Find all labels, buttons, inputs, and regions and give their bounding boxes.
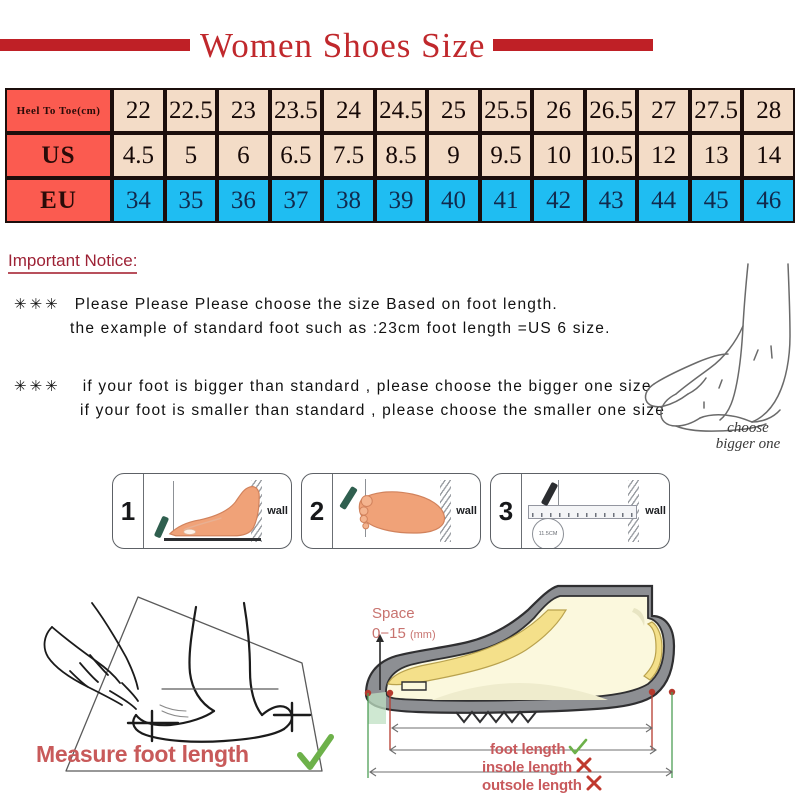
space-label-value: 0−15 <box>372 625 406 642</box>
cell-cm-7: 25.5 <box>480 88 533 133</box>
notice-block-1: ✳✳✳ Please Please Please choose the size… <box>14 293 611 341</box>
row-header-eu: EU <box>5 178 112 223</box>
cell-eu-10: 44 <box>637 178 690 223</box>
cross-icon-outsole-length <box>585 774 603 797</box>
cell-us-9: 10.5 <box>585 133 638 178</box>
foot-sketch-caption: choose bigger one <box>688 420 800 452</box>
title-bar-left <box>0 39 190 51</box>
cell-us-7: 9.5 <box>480 133 533 178</box>
step-number-2: 2 <box>302 474 333 548</box>
notice-2-line-1: if your foot is bigger than standard , p… <box>61 375 652 399</box>
step-2-wall-label: wall <box>456 505 477 517</box>
cell-eu-3: 37 <box>270 178 323 223</box>
important-notice-heading: Important Notice: <box>8 252 137 274</box>
cell-cm-12: 28 <box>742 88 795 133</box>
step-2-illustration: wall <box>333 474 480 548</box>
cell-cm-0: 22 <box>112 88 165 133</box>
size-conversion-table: Heel To Toe(cm) 22 22.5 23 23.5 24 24.5 … <box>5 88 795 223</box>
step-1-wall-label: wall <box>267 505 288 517</box>
cell-us-1: 5 <box>165 133 218 178</box>
step-3-pencil-icon <box>541 482 558 506</box>
space-label-line-1: Space <box>372 604 436 624</box>
cell-cm-11: 27.5 <box>690 88 743 133</box>
length-legend: foot length insole length outsole length <box>482 740 603 794</box>
cell-eu-6: 40 <box>427 178 480 223</box>
row-header-heel-to-toe: Heel To Toe(cm) <box>5 88 112 133</box>
cell-us-0: 4.5 <box>112 133 165 178</box>
step-3-wall-label: wall <box>645 505 666 517</box>
cell-eu-0: 34 <box>112 178 165 223</box>
cell-eu-11: 45 <box>690 178 743 223</box>
step-3-ruler-icon <box>528 505 637 519</box>
table-row-us: US 4.5 5 6 6.5 7.5 8.5 9 9.5 10 10.5 12 … <box>5 133 795 178</box>
row-header-us: US <box>5 133 112 178</box>
cell-cm-4: 24 <box>322 88 375 133</box>
measure-foot-check-icon <box>295 733 335 780</box>
notice-bullet-2: ✳✳✳ <box>14 375 61 399</box>
cell-eu-12: 46 <box>742 178 795 223</box>
notice-block-2: ✳✳✳ if your foot is bigger than standard… <box>14 375 665 423</box>
cell-us-12: 14 <box>742 133 795 178</box>
notice-1-line-2: the example of standard foot such as :23… <box>14 317 611 341</box>
measure-foot-caption: Measure foot length <box>36 741 249 768</box>
cell-eu-1: 35 <box>165 178 218 223</box>
cell-cm-3: 23.5 <box>270 88 323 133</box>
cell-cm-2: 23 <box>217 88 270 133</box>
foot-sketch-caption-line-2: bigger one <box>688 436 800 452</box>
step-3-reading-badge: 11.5CM <box>532 518 564 549</box>
cell-us-3: 6.5 <box>270 133 323 178</box>
cell-eu-5: 39 <box>375 178 428 223</box>
cell-us-8: 10 <box>532 133 585 178</box>
cell-cm-8: 26 <box>532 88 585 133</box>
legend-label-outsole-length: outsole length <box>482 777 582 794</box>
notice-2-line-2: if your foot is smaller than standard , … <box>14 399 665 423</box>
cell-us-6: 9 <box>427 133 480 178</box>
step-number-1: 1 <box>113 474 144 548</box>
foot-sketch-caption-line-1: choose <box>688 420 800 436</box>
notice-1-line-1: Please Please Please choose the size Bas… <box>61 293 558 317</box>
step-panel-1: 1 wall <box>112 473 292 549</box>
cell-eu-4: 38 <box>322 178 375 223</box>
table-row-heel-to-toe: Heel To Toe(cm) 22 22.5 23 23.5 24 24.5 … <box>5 88 795 133</box>
page-title: Women Shoes Size <box>194 28 491 63</box>
legend-label-insole-length: insole length <box>482 759 572 776</box>
foot-sketch-svg <box>640 262 795 442</box>
size-chart-page: Women Shoes Size Heel To Toe(cm) 22 22.5… <box>0 0 800 800</box>
cell-cm-1: 22.5 <box>165 88 218 133</box>
page-title-row: Women Shoes Size <box>0 22 800 68</box>
cell-eu-2: 36 <box>217 178 270 223</box>
step-panel-3: 3 11.5CM wall <box>490 473 670 549</box>
cell-us-10: 12 <box>637 133 690 178</box>
table-row-eu: EU 34 35 36 37 38 39 40 41 42 43 44 45 4… <box>5 178 795 223</box>
title-bar-right <box>493 39 653 51</box>
legend-row-outsole-length: outsole length <box>482 776 603 794</box>
cell-eu-8: 42 <box>532 178 585 223</box>
space-label-unit: (mm) <box>410 629 436 641</box>
space-dimension-label: Space 0−15 (mm) <box>372 604 436 645</box>
cell-eu-7: 41 <box>480 178 533 223</box>
step-number-3: 3 <box>491 474 522 548</box>
step-1-illustration: wall <box>144 474 291 548</box>
cell-cm-6: 25 <box>427 88 480 133</box>
notice-bullet-1: ✳✳✳ <box>14 293 61 317</box>
cell-cm-9: 26.5 <box>585 88 638 133</box>
step-panel-2: 2 wall <box>301 473 481 549</box>
cell-eu-9: 43 <box>585 178 638 223</box>
cell-us-4: 7.5 <box>322 133 375 178</box>
step-3-illustration: 11.5CM wall <box>522 474 669 548</box>
step-1-floor-line <box>164 538 261 541</box>
cell-cm-10: 27 <box>637 88 690 133</box>
legend-label-foot-length: foot length <box>490 741 565 758</box>
cell-cm-5: 24.5 <box>375 88 428 133</box>
foot-side-sketch-icon <box>640 262 795 442</box>
cell-us-11: 13 <box>690 133 743 178</box>
measurement-steps: 1 wall 2 <box>112 473 670 549</box>
cell-us-2: 6 <box>217 133 270 178</box>
cell-us-5: 8.5 <box>375 133 428 178</box>
